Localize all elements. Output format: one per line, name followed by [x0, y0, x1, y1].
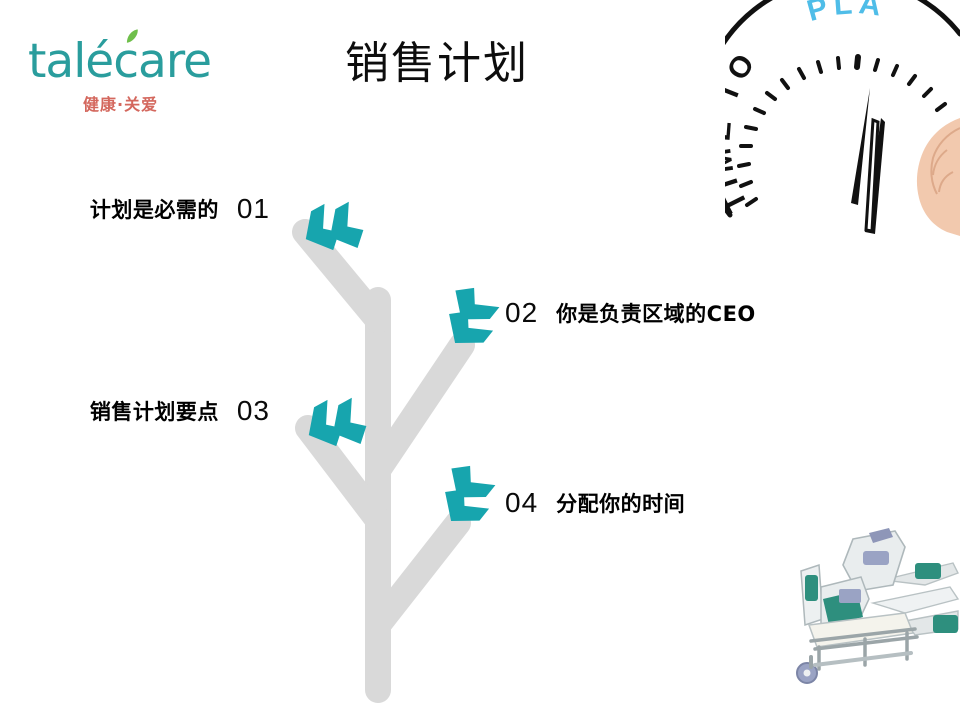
item-label-03: 销售计划要点	[90, 396, 219, 426]
brand-wordmark: talécare	[28, 38, 243, 85]
item-number-03: 03	[237, 395, 270, 427]
leaf-cluster-02	[429, 276, 510, 357]
leaf-cluster-03	[297, 385, 378, 466]
leaf-cluster-04	[425, 454, 506, 535]
brand-logo: talécare 健康·关爱	[28, 38, 243, 138]
item-number-04: 04	[505, 487, 538, 519]
time-to-plan-clock-photo: TIME TO PLA	[725, 0, 960, 250]
tree-branches	[305, 232, 462, 690]
brand-wordmark-text: talécare	[28, 34, 211, 89]
page-title: 销售计划	[345, 38, 529, 91]
item-label-04: 分配你的时间	[556, 488, 685, 518]
branch-04	[378, 523, 458, 625]
list-item-01[interactable]: 计划是必需的 01	[50, 193, 270, 225]
item-number-01: 01	[237, 193, 270, 225]
item-label-02: 你是负责区域的CEO	[556, 298, 756, 328]
item-number-02: 02	[505, 297, 538, 329]
hospital-bed-photo	[765, 525, 960, 710]
list-item-04[interactable]: 04 分配你的时间	[505, 487, 935, 519]
branch-02	[378, 345, 462, 470]
item-label-01: 计划是必需的	[90, 194, 219, 224]
slide-canvas: talécare 健康·关爱 销售计划 计划是必需的 01 02 你是负责区域的…	[0, 0, 960, 720]
leaf-cluster-01	[294, 189, 375, 270]
branch-01	[305, 232, 378, 320]
brand-tagline: 健康·关爱	[83, 97, 243, 113]
list-item-03[interactable]: 销售计划要点 03	[50, 395, 270, 427]
branch-03	[308, 428, 378, 520]
list-item-02[interactable]: 02 你是负责区域的CEO	[505, 297, 935, 329]
